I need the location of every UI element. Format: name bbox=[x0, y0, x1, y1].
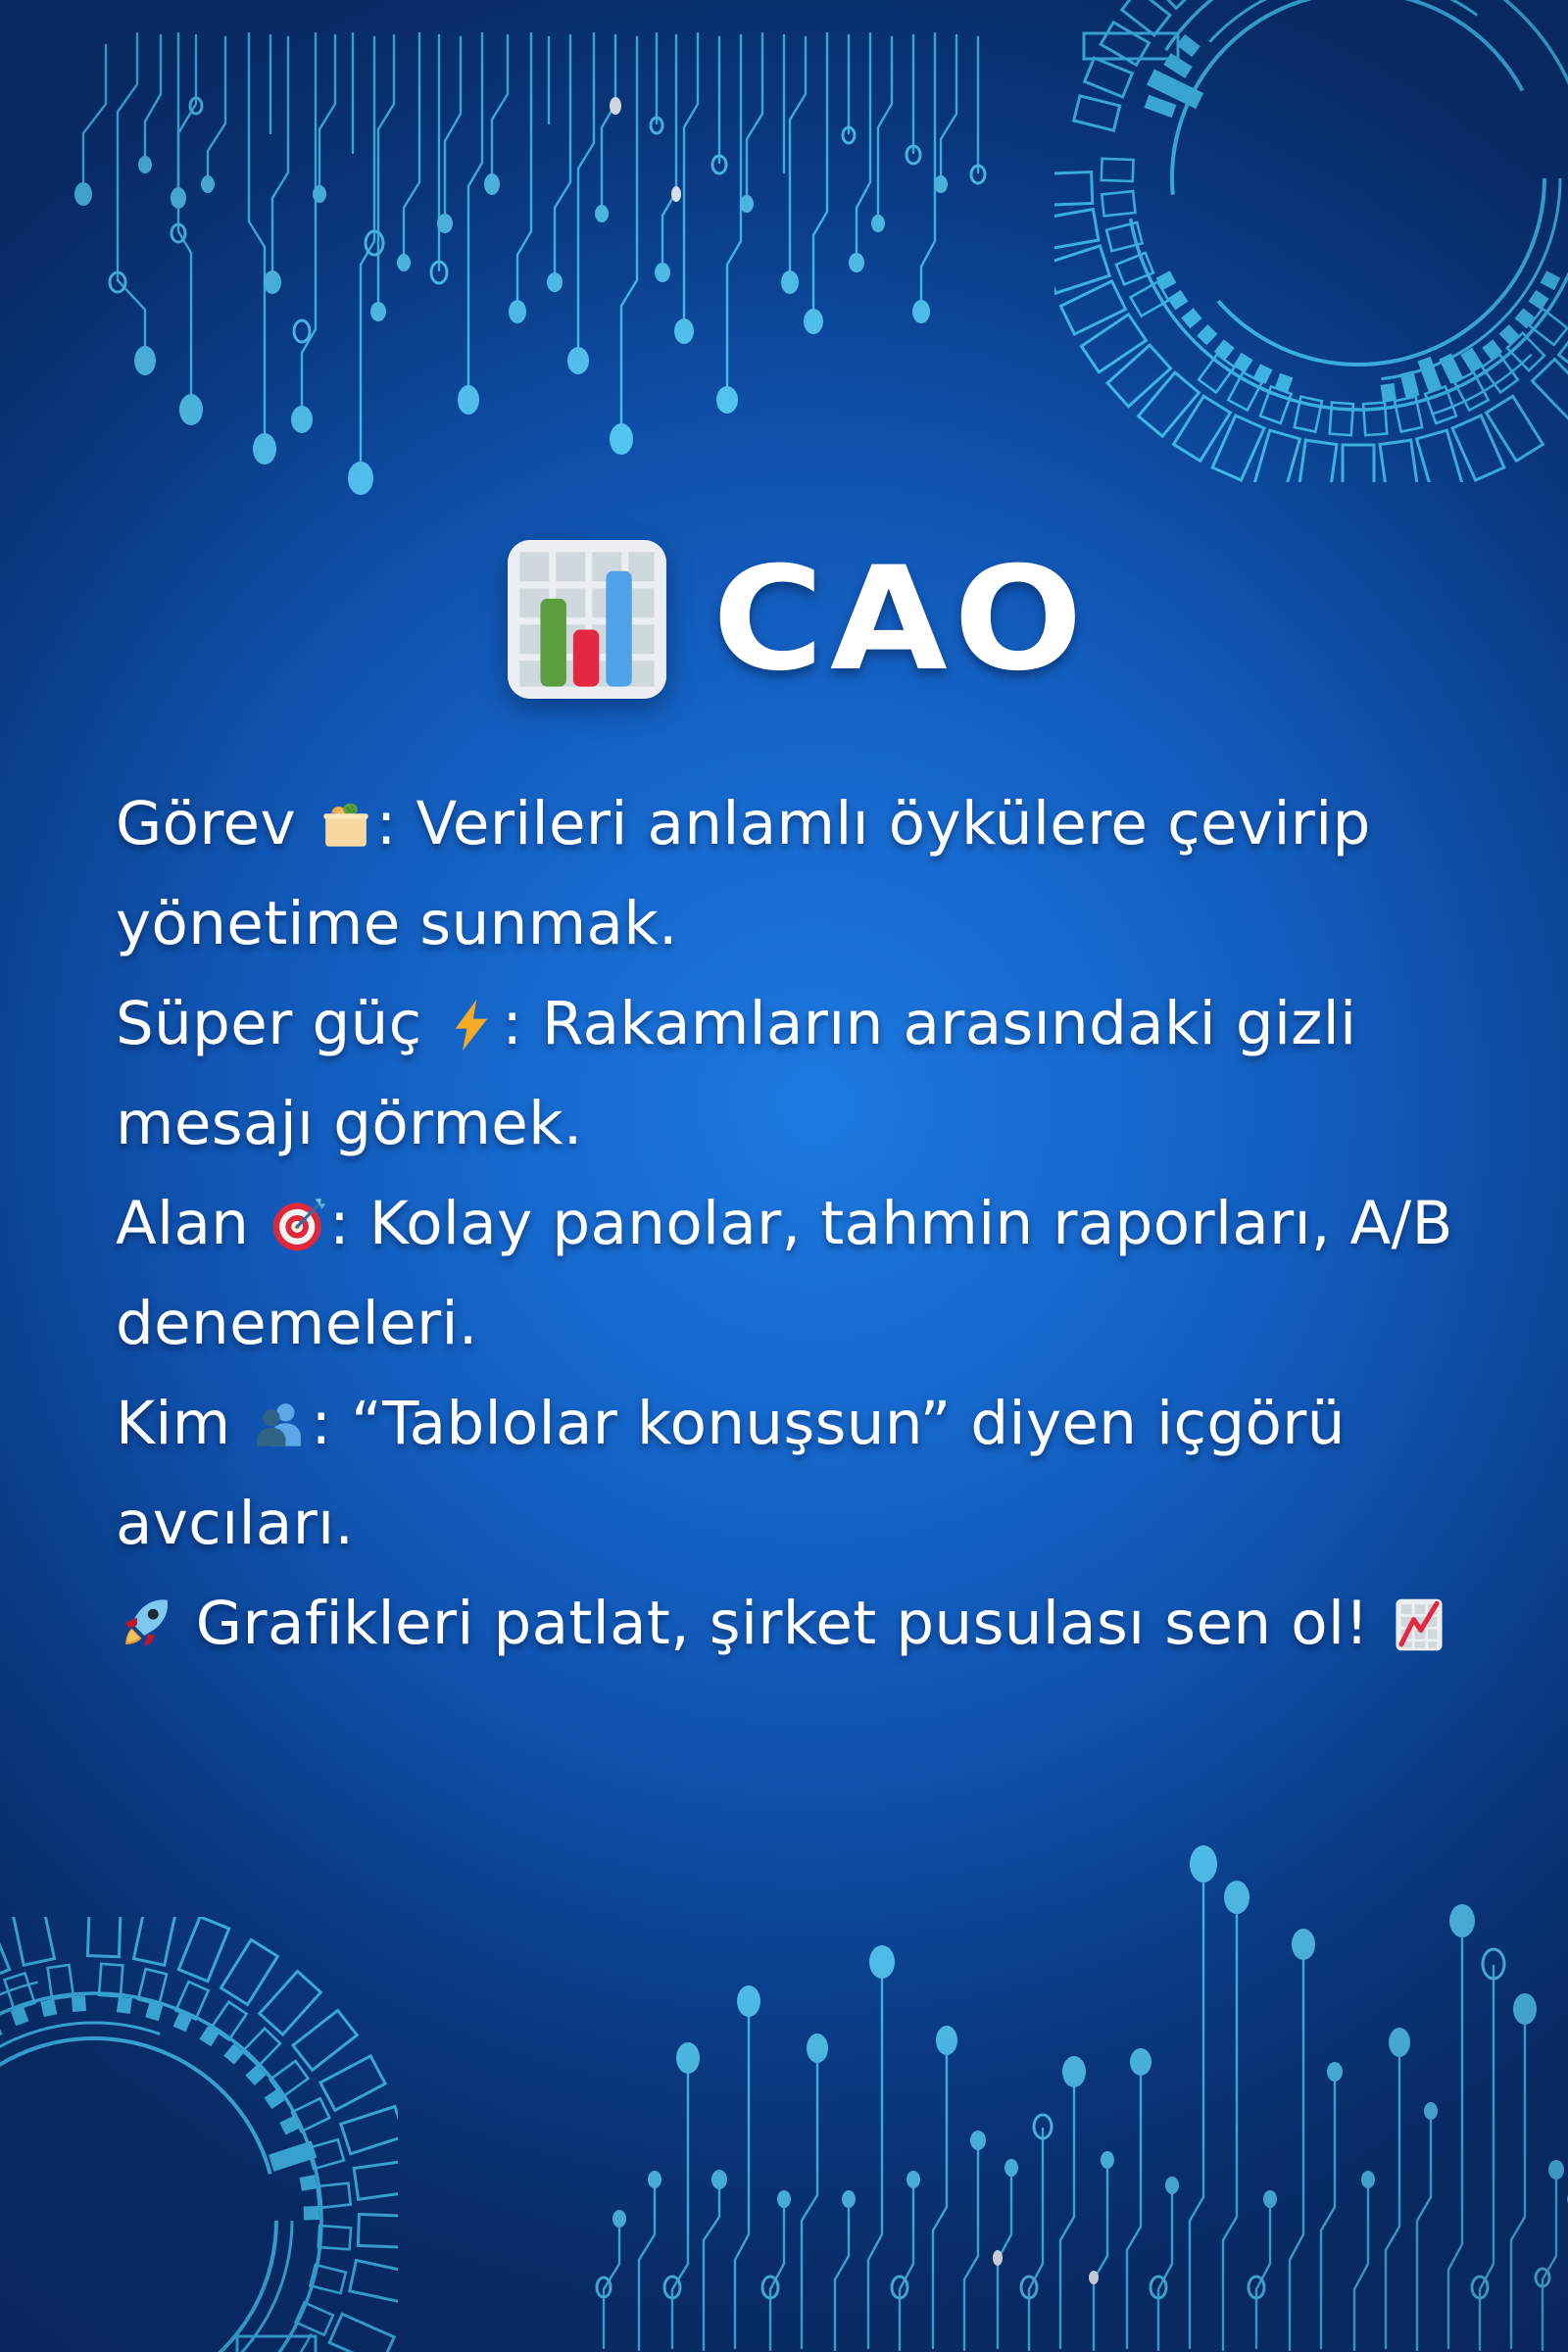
rocket-icon bbox=[118, 1596, 174, 1653]
line-kim-prefix: Kim bbox=[116, 1389, 250, 1458]
line-cta-text: Grafikleri patlat, şirket pusulası sen o… bbox=[176, 1589, 1389, 1658]
top-circuit-traces-decoration bbox=[29, 0, 1019, 496]
line-alan-prefix: Alan bbox=[116, 1189, 269, 1258]
page-title: CAO bbox=[712, 548, 1089, 691]
poster-root: CAO Görev : Verileri anlamlı öykülere çe… bbox=[0, 0, 1568, 2352]
basket-icon bbox=[318, 797, 374, 854]
bar-chart-table-icon bbox=[501, 533, 673, 706]
line-gorev-prefix: Görev bbox=[116, 789, 316, 858]
body-copy: Görev : Verileri anlamlı öykülere çeviri… bbox=[116, 774, 1474, 1674]
bottom-hud-dial-decoration bbox=[0, 1917, 398, 2352]
brand-header: CAO bbox=[0, 533, 1568, 706]
line-alan: Alan : Kolay panolar, tahmin raporları, … bbox=[116, 1174, 1474, 1374]
chart-increasing-icon bbox=[1391, 1596, 1447, 1653]
line-super-guc: Süper güç : Rakamların arasındaki gizli … bbox=[116, 974, 1474, 1174]
bottom-circuit-traces-decoration bbox=[549, 1829, 1568, 2352]
line-super-guc-prefix: Süper güç bbox=[116, 989, 441, 1058]
top-hud-dial-decoration bbox=[1054, 0, 1568, 482]
busts-in-silhouette-icon bbox=[252, 1396, 309, 1453]
high-voltage-icon bbox=[443, 997, 500, 1053]
line-kim: Kim : “Tablolar konuşsun” diyen içgörü a… bbox=[116, 1374, 1474, 1574]
dart-target-icon bbox=[270, 1197, 327, 1253]
line-cta: Grafikleri patlat, şirket pusulası sen o… bbox=[116, 1574, 1474, 1674]
line-gorev: Görev : Verileri anlamlı öykülere çeviri… bbox=[116, 774, 1474, 974]
